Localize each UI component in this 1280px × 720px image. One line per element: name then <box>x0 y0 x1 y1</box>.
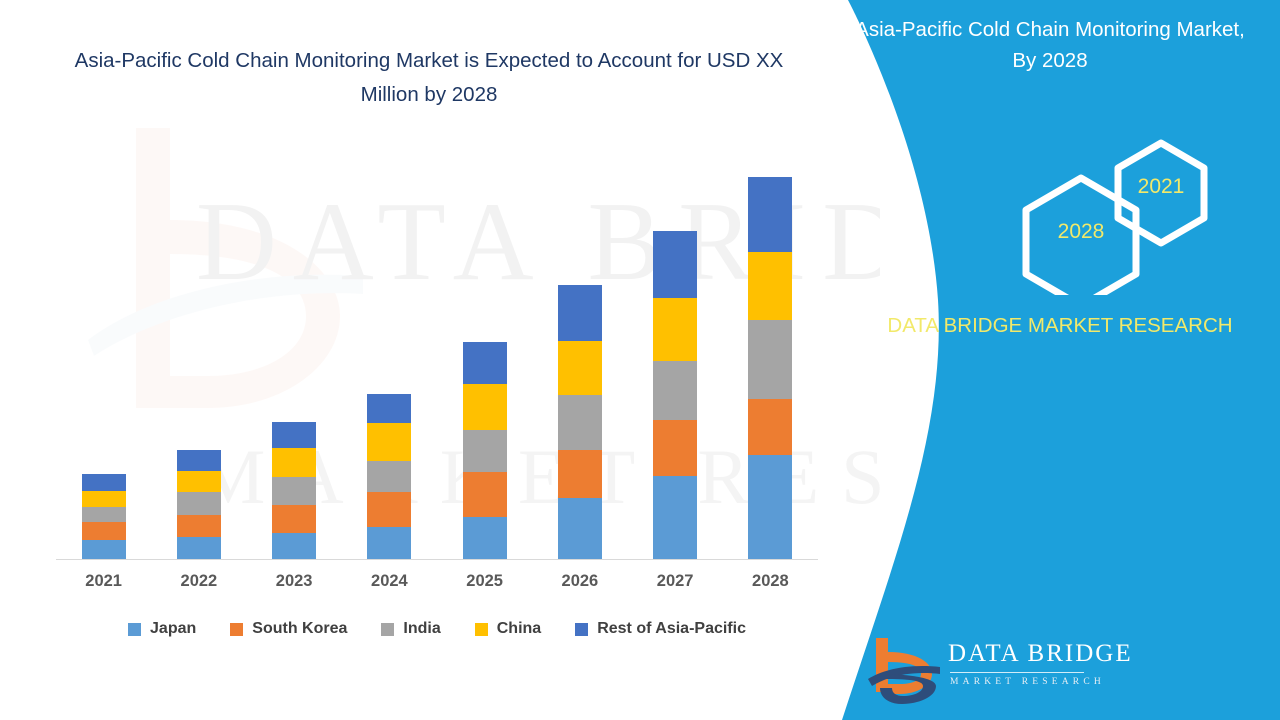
legend-item-china[interactable]: China <box>475 620 541 638</box>
x-axis-label-2024: 2024 <box>344 572 434 591</box>
bar-segment-south-korea <box>653 420 697 476</box>
bar-2022 <box>177 450 221 559</box>
legend-item-south-korea[interactable]: South Korea <box>230 620 347 638</box>
bar-segment-china <box>653 298 697 362</box>
chart-plot-area <box>56 150 818 560</box>
bar-segment-rest-of-asia-pacific <box>463 342 507 384</box>
x-axis-line <box>56 559 818 560</box>
bar-segment-china <box>558 341 602 395</box>
bar-segment-rest-of-asia-pacific <box>367 394 411 423</box>
bar-2025 <box>463 342 507 559</box>
x-axis-label-2021: 2021 <box>59 572 149 591</box>
data-bridge-logo: DATA BRIDGE MARKET RESEARCH <box>866 634 1086 708</box>
bar-segment-india <box>653 361 697 419</box>
bar-segment-rest-of-asia-pacific <box>272 422 316 449</box>
bar-segment-china <box>463 384 507 430</box>
legend-label: India <box>403 620 440 638</box>
bar-segment-rest-of-asia-pacific <box>82 474 126 491</box>
panel-brand-text: DATA BRIDGE MARKET RESEARCH <box>860 310 1260 342</box>
bar-segment-india <box>177 492 221 515</box>
bar-segment-south-korea <box>748 399 792 455</box>
chart-title: Asia-Pacific Cold Chain Monitoring Marke… <box>44 44 814 112</box>
bar-segment-china <box>272 448 316 477</box>
hexagon-group: 2021 2028 <box>950 135 1250 295</box>
hexagon-2028-label: 2028 <box>1036 220 1126 244</box>
bar-segment-japan <box>82 540 126 559</box>
legend-swatch-icon <box>475 623 488 636</box>
bar-segment-india <box>82 507 126 522</box>
logo-divider <box>950 672 1084 673</box>
legend-swatch-icon <box>128 623 141 636</box>
bar-segment-india <box>463 430 507 472</box>
x-axis-label-2027: 2027 <box>630 572 720 591</box>
legend-label: South Korea <box>252 620 347 638</box>
chart-legend: JapanSouth KoreaIndiaChinaRest of Asia-P… <box>56 615 818 643</box>
legend-swatch-icon <box>230 623 243 636</box>
legend-swatch-icon <box>575 623 588 636</box>
bar-2026 <box>558 285 602 559</box>
bar-segment-south-korea <box>463 472 507 517</box>
bar-segment-china <box>82 491 126 506</box>
x-axis-label-2028: 2028 <box>725 572 815 591</box>
bar-segment-japan <box>272 533 316 559</box>
bar-segment-india <box>367 461 411 493</box>
panel-title: Asia-Pacific Cold Chain Monitoring Marke… <box>850 14 1250 76</box>
bar-segment-japan <box>748 455 792 559</box>
bar-2023 <box>272 422 316 559</box>
bar-segment-south-korea <box>272 505 316 534</box>
bar-segment-rest-of-asia-pacific <box>748 177 792 252</box>
bar-segment-japan <box>558 498 602 560</box>
bar-segment-rest-of-asia-pacific <box>558 285 602 340</box>
bar-segment-south-korea <box>558 450 602 497</box>
x-axis-label-2022: 2022 <box>154 572 244 591</box>
logo-b-icon <box>866 634 946 706</box>
bar-segment-south-korea <box>367 492 411 527</box>
bar-segment-china <box>367 423 411 461</box>
legend-item-india[interactable]: India <box>381 620 440 638</box>
bar-segment-rest-of-asia-pacific <box>653 231 697 298</box>
legend-label: Rest of Asia-Pacific <box>597 620 746 638</box>
legend-item-rest-of-asia-pacific[interactable]: Rest of Asia-Pacific <box>575 620 746 638</box>
x-axis-labels: 20212022202320242025202620272028 <box>56 572 818 598</box>
bar-2028 <box>748 177 792 559</box>
bar-2024 <box>367 394 411 559</box>
bar-segment-south-korea <box>177 515 221 538</box>
bar-segment-south-korea <box>82 522 126 539</box>
legend-label: Japan <box>150 620 196 638</box>
bar-segment-rest-of-asia-pacific <box>177 450 221 471</box>
bar-segment-japan <box>653 476 697 559</box>
right-panel: Asia-Pacific Cold Chain Monitoring Marke… <box>820 0 1280 720</box>
infographic-root: DATA BRIDGE MARKET RESEARCH Asia-Pacific… <box>0 0 1280 720</box>
bar-segment-china <box>177 471 221 493</box>
bar-segment-china <box>748 252 792 321</box>
legend-swatch-icon <box>381 623 394 636</box>
bar-segment-japan <box>177 537 221 559</box>
logo-secondary-text: MARKET RESEARCH <box>950 677 1105 687</box>
bar-2021 <box>82 474 126 559</box>
x-axis-label-2025: 2025 <box>440 572 530 591</box>
bar-2027 <box>653 231 697 559</box>
legend-item-japan[interactable]: Japan <box>128 620 196 638</box>
hexagon-2021-label: 2021 <box>1116 175 1206 199</box>
bar-segment-india <box>748 320 792 399</box>
panel-curved-background <box>820 0 1280 720</box>
bar-segment-india <box>558 395 602 450</box>
logo-primary-text: DATA BRIDGE <box>948 640 1133 668</box>
bar-segment-japan <box>367 527 411 559</box>
x-axis-label-2026: 2026 <box>535 572 625 591</box>
x-axis-label-2023: 2023 <box>249 572 339 591</box>
hexagon-outlines-icon <box>950 135 1250 295</box>
bar-segment-india <box>272 477 316 505</box>
bar-segment-japan <box>463 517 507 559</box>
legend-label: China <box>497 620 541 638</box>
